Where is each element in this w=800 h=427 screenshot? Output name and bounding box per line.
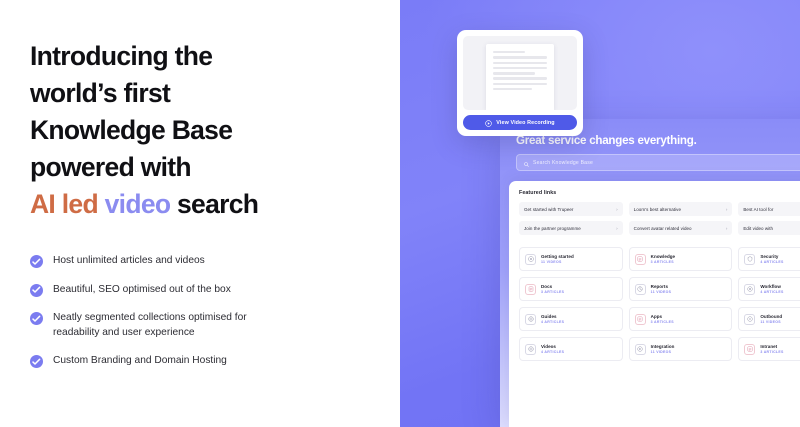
doc-icon	[525, 284, 536, 295]
list-item-label: Custom Branding and Domain Hosting	[53, 354, 227, 369]
category-card[interactable]: Reports11 VIDEOS	[629, 277, 733, 301]
category-card-title: Security	[760, 254, 783, 259]
featured-links-column: Best AI tool for Edit video with	[738, 202, 800, 240]
knowledge-base-content-sheet: Featured links Get started with Trupeer …	[509, 181, 800, 427]
featured-link-label: Best AI tool for	[743, 207, 773, 212]
list-item-label: Neatly segmented collections optimised f…	[53, 311, 278, 340]
category-card-meta: Guides4 ARTICLES	[541, 314, 564, 325]
check-icon	[30, 355, 43, 368]
list-item: Neatly segmented collections optimised f…	[30, 311, 370, 340]
category-card-meta: Docs3 ARTICLES	[541, 284, 564, 295]
document-text-line	[493, 72, 535, 74]
hero-banner: Introducing the world’s first Knowledge …	[0, 0, 800, 427]
headline-line-1: Introducing the	[30, 41, 212, 71]
check-icon	[30, 284, 43, 297]
featured-links-column: Loom’s best alternative › Convert avatar…	[629, 202, 733, 240]
category-card-title: Integration	[651, 344, 675, 349]
list-icon	[635, 254, 646, 265]
category-card-title: Knowledge	[651, 254, 675, 259]
document-text-line	[493, 77, 547, 79]
category-card-count: 11 VIDEOS	[760, 320, 782, 324]
headline-accent-video: video	[105, 189, 171, 219]
category-card-meta: Security4 ARTICLES	[760, 254, 783, 265]
category-card-title: Apps	[651, 314, 674, 319]
featured-link-label: Get started with Trupeer	[524, 207, 573, 212]
target-icon	[525, 254, 536, 265]
category-card-count: 4 ARTICLES	[760, 260, 783, 264]
check-icon	[30, 312, 43, 325]
grid-icon	[635, 314, 646, 325]
category-card-grid: Getting started11 VIDEOSKnowledge3 ARTIC…	[519, 247, 800, 361]
document-preview	[486, 44, 554, 110]
video-recording-card: View Video Recording	[457, 30, 583, 136]
shield-icon	[744, 254, 755, 265]
page-title: Introducing the world’s first Knowledge …	[30, 38, 370, 223]
featured-links-column: Get started with Trupeer › Join the part…	[519, 202, 623, 240]
featured-link-label: Loom’s best alternative	[634, 207, 681, 212]
play-circle-icon	[485, 114, 492, 132]
play-icon	[525, 344, 536, 355]
featured-links-heading: Featured links	[519, 190, 800, 196]
list-item: Host unlimited articles and videos	[30, 254, 370, 269]
list-item: Custom Branding and Domain Hosting	[30, 354, 370, 369]
list-item: Beautiful, SEO optimised out of the box	[30, 283, 370, 298]
category-card-title: Workflow	[760, 284, 783, 289]
book-icon	[525, 314, 536, 325]
category-card-count: 11 VIDEOS	[651, 290, 672, 294]
document-thumbnail	[463, 36, 577, 110]
document-text-line	[493, 51, 525, 53]
list-item-label: Host unlimited articles and videos	[53, 254, 205, 269]
category-card-meta: Getting started11 VIDEOS	[541, 254, 574, 265]
featured-link[interactable]: Edit video with	[738, 221, 800, 235]
document-text-line	[493, 67, 547, 69]
category-card-count: 4 ARTICLES	[760, 290, 783, 294]
chevron-right-icon: ›	[726, 207, 728, 212]
featured-links-grid: Get started with Trupeer › Join the part…	[519, 202, 800, 240]
category-card[interactable]: Intranet3 ARTICLES	[738, 337, 800, 361]
document-text-line	[493, 62, 547, 64]
flow-icon	[744, 284, 755, 295]
headline-line-2: world’s first	[30, 78, 170, 108]
knowledge-base-window: Knowledge Base Great service changes eve…	[500, 119, 800, 427]
category-card[interactable]: Integration11 VIDEOS	[629, 337, 733, 361]
plug-icon	[635, 344, 646, 355]
category-card-title: Intranet	[760, 344, 783, 349]
view-video-recording-label: View Video Recording	[496, 120, 554, 126]
product-preview-panel: Knowledge Base Great service changes eve…	[400, 0, 800, 427]
category-card-count: 4 ARTICLES	[541, 350, 564, 354]
headline-accent-ai: AI led	[30, 189, 98, 219]
category-card-title: Docs	[541, 284, 564, 289]
category-card-count: 11 VIDEOS	[651, 350, 675, 354]
featured-link-label: Join the partner programme	[524, 226, 581, 231]
featured-link[interactable]: Join the partner programme ›	[519, 221, 623, 235]
check-icon	[30, 255, 43, 268]
search-icon	[524, 154, 529, 172]
chevron-right-icon: ›	[616, 226, 618, 231]
featured-link[interactable]: Get started with Trupeer ›	[519, 202, 623, 216]
search-placeholder: Search Knowledge Base	[533, 160, 593, 166]
category-card[interactable]: Outbound11 VIDEOS	[738, 307, 800, 331]
category-card-count: 3 ARTICLES	[651, 260, 675, 264]
featured-link[interactable]: Best AI tool for	[738, 202, 800, 216]
list-item-label: Beautiful, SEO optimised out of the box	[53, 283, 231, 298]
send-icon	[744, 314, 755, 325]
category-card-meta: Workflow4 ARTICLES	[760, 284, 783, 295]
category-card[interactable]: Videos4 ARTICLES	[519, 337, 623, 361]
featured-link-label: Edit video with	[743, 226, 773, 231]
category-card-count: 3 ARTICLES	[760, 350, 783, 354]
list-icon	[744, 344, 755, 355]
search-input[interactable]: Search Knowledge Base	[516, 154, 800, 171]
feature-list: Host unlimited articles and videos Beaut…	[30, 254, 370, 369]
category-card-meta: Knowledge3 ARTICLES	[651, 254, 675, 265]
category-card-meta: Videos4 ARTICLES	[541, 344, 564, 355]
document-text-line	[493, 56, 547, 58]
category-card[interactable]: Apps3 ARTICLES	[629, 307, 733, 331]
category-card[interactable]: Security4 ARTICLES	[738, 247, 800, 271]
category-card-title: Getting started	[541, 254, 574, 259]
category-card-count: 11 VIDEOS	[541, 260, 574, 264]
category-card-count: 3 ARTICLES	[541, 290, 564, 294]
category-card-title: Videos	[541, 344, 564, 349]
headline-line-3: Knowledge Base	[30, 115, 232, 145]
featured-link[interactable]: Convert avatar related video ›	[629, 221, 733, 235]
featured-link[interactable]: Loom’s best alternative ›	[629, 202, 733, 216]
chart-icon	[635, 284, 646, 295]
chevron-right-icon: ›	[616, 207, 618, 212]
headline-line-4: powered with	[30, 152, 191, 182]
category-card-meta: Integration11 VIDEOS	[651, 344, 675, 355]
headline-tail: search	[177, 189, 258, 219]
category-card-title: Reports	[651, 284, 672, 289]
chevron-right-icon: ›	[726, 226, 728, 231]
document-text-line	[493, 88, 532, 90]
category-card[interactable]: Knowledge3 ARTICLES	[629, 247, 733, 271]
category-card-title: Outbound	[760, 314, 782, 319]
category-card[interactable]: Docs3 ARTICLES	[519, 277, 623, 301]
category-card[interactable]: Workflow4 ARTICLES	[738, 277, 800, 301]
category-card[interactable]: Guides4 ARTICLES	[519, 307, 623, 331]
category-card-count: 3 ARTICLES	[651, 320, 674, 324]
category-card-meta: Apps3 ARTICLES	[651, 314, 674, 325]
category-card-meta: Reports11 VIDEOS	[651, 284, 672, 295]
document-text-line	[493, 83, 547, 85]
category-card-meta: Outbound11 VIDEOS	[760, 314, 782, 325]
featured-link-label: Convert avatar related video	[634, 226, 692, 231]
category-card-title: Guides	[541, 314, 564, 319]
category-card[interactable]: Getting started11 VIDEOS	[519, 247, 623, 271]
category-card-meta: Intranet3 ARTICLES	[760, 344, 783, 355]
left-content-panel: Introducing the world’s first Knowledge …	[0, 0, 400, 427]
category-card-count: 4 ARTICLES	[541, 320, 564, 324]
view-video-recording-button[interactable]: View Video Recording	[463, 115, 577, 130]
